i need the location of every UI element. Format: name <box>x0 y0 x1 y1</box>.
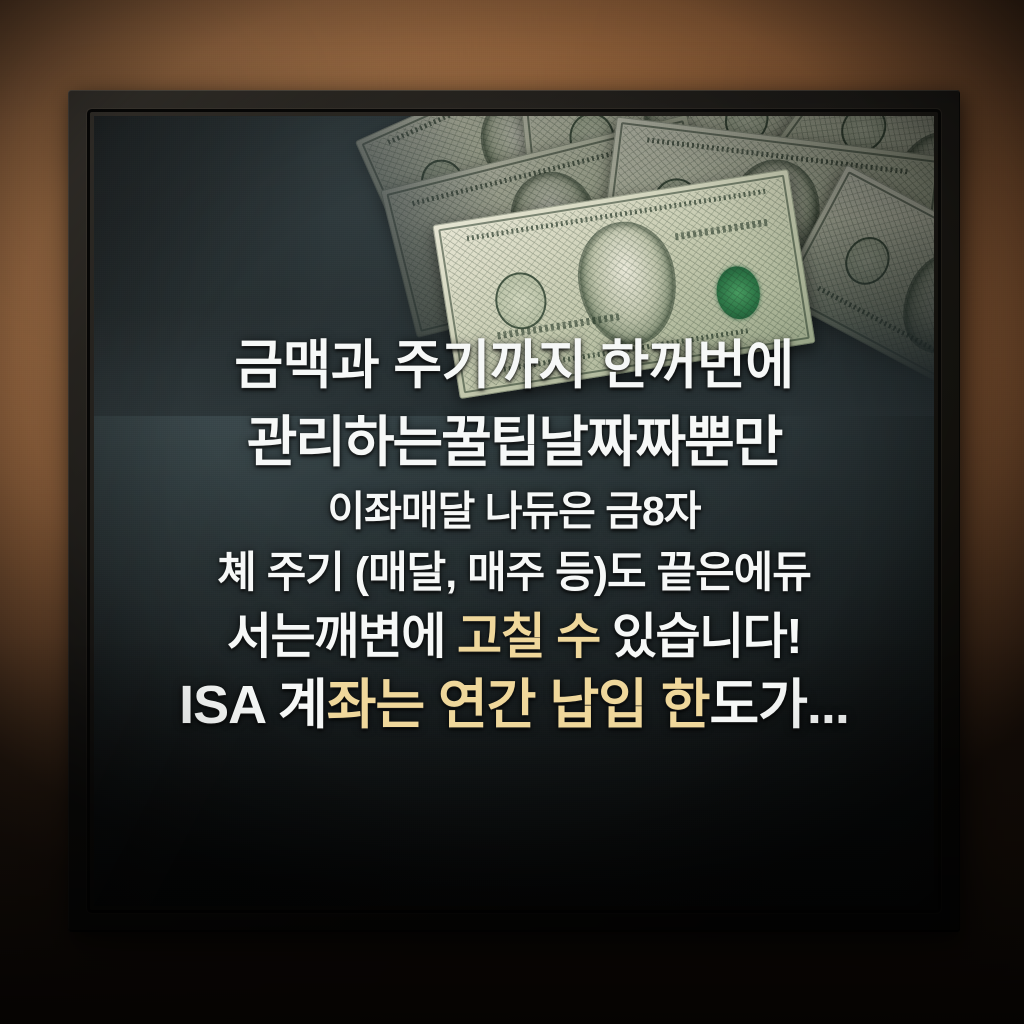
poster-text-line-1: 금맥과 주기까지 한꺼번에 <box>94 328 934 404</box>
text-segment-1: 금맥과 주기까지 한꺼번에 <box>234 336 793 395</box>
text-segment-3: 있습니다! <box>600 610 801 664</box>
poster-text-line-4: 쳬 주기 (매달, 매주 등)도 끝은에듀 <box>94 542 934 604</box>
scene-root: 금맥과 주기까지 한꺼번에 관리하는꿀팁날짜짜뿐만 이좌매달 나듀은 금8자 쳬… <box>0 0 1024 1024</box>
text-segment-1: 이좌매달 나듀은 금8자 <box>327 488 700 534</box>
poster-text-block: 금맥과 주기까지 한꺼번에 관리하는꿀팁날짜짜뿐만 이좌매달 나듀은 금8자 쳬… <box>94 328 934 740</box>
poster-text-line-3: 이좌매달 나듀은 금8자 <box>94 480 934 542</box>
text-segment-1: ISA 계 <box>179 675 327 735</box>
text-segment-2: 고칠 수 <box>457 610 600 664</box>
poster-text-line-6: ISA 계좌는 연간 납입 한도가... <box>94 670 934 740</box>
poster-text-line-5: 서는깨변에 고칠 수 있습니다! <box>94 604 934 670</box>
text-segment-1: 쳬 주기 (매달, 매주 등)도 끝은에듀 <box>217 549 811 597</box>
poster-text-line-2: 관리하는꿀팁날짜짜뿐만 <box>94 404 934 480</box>
text-segment-1: 관리하는꿀팁날짜짜뿐만 <box>247 411 782 473</box>
text-segment-2: 좌는 연간 납입 한 <box>327 675 710 735</box>
text-segment-1: 서는깨변에 <box>227 610 457 664</box>
text-segment-3: 도가... <box>710 675 849 735</box>
